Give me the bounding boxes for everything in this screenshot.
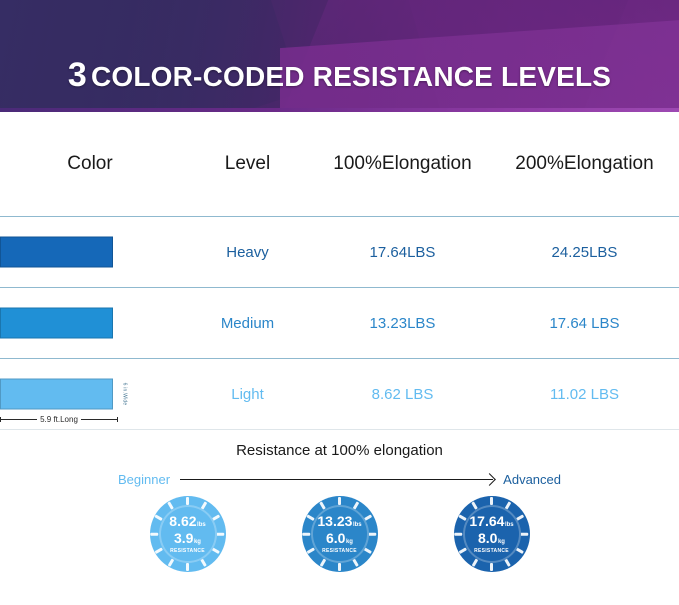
column-header-color: Color [0, 153, 235, 175]
swatch-cell-medium [0, 288, 180, 358]
badge-kg-medium: 6.0kg [326, 531, 353, 545]
badge-inner-heavy: 17.64lbs 8.0kg RESISTANCE [463, 505, 521, 563]
dimension-label-length: 5.9 ft.Long [40, 415, 78, 424]
column-header-elongation-200: 200%Elongation [490, 153, 679, 175]
swatch-wrap-light [0, 379, 113, 410]
dimension-leader-left [0, 419, 37, 420]
badge-kg-unit-medium: kg [346, 539, 353, 545]
swatch-wrap-heavy [0, 237, 113, 268]
column-header-elongation-100: 100%Elongation [315, 153, 490, 175]
badge-lbs-value-light: 8.62 [169, 513, 196, 529]
cell-level-medium: Medium [180, 315, 315, 332]
table-header-row: Color Level 100%Elongation 200%Elongatio… [0, 112, 679, 217]
swatch-cell-light: 6 in.Wide 5.9 ft.Long [0, 359, 180, 429]
badge-caption-heavy: RESISTANCE [474, 549, 509, 554]
title-text: COLOR-CODED RESISTANCE LEVELS [91, 61, 611, 92]
badge-inner-medium: 13.23lbs 6.0kg RESISTANCE [311, 505, 369, 563]
scale-title: Resistance at 100% elongation [0, 442, 679, 459]
color-swatch-heavy [0, 237, 113, 268]
scale-label-advanced: Advanced [503, 472, 561, 487]
badge-kg-unit-heavy: kg [498, 539, 505, 545]
badge-lbs-unit-heavy: lbs [505, 522, 514, 528]
resistance-scale-section: Resistance at 100% elongation Beginner A… [0, 430, 679, 605]
badge-lbs-value-medium: 13.23 [317, 513, 352, 529]
cell-elongation200-heavy: 24.25LBS [490, 244, 679, 261]
table-row: 6 in.Wide 5.9 ft.Long Light 8.62 LBS 11.… [0, 359, 679, 430]
page-title: 3COLOR-CODED RESISTANCE LEVELS [0, 56, 679, 95]
badge-lbs-heavy: 17.64lbs [469, 514, 513, 528]
badge-caption-medium: RESISTANCE [322, 549, 357, 554]
table-row: Heavy 17.64LBS 24.25LBS [0, 217, 679, 288]
resistance-badge-heavy: 17.64lbs 8.0kg RESISTANCE [454, 496, 530, 572]
resistance-table: Color Level 100%Elongation 200%Elongatio… [0, 112, 679, 430]
cell-elongation200-light: 11.02 LBS [490, 386, 679, 403]
scale-label-beginner: Beginner [118, 472, 170, 487]
badge-kg-value-medium: 6.0 [326, 530, 345, 546]
badge-kg-value-light: 3.9 [174, 530, 193, 546]
cell-level-light: Light [180, 386, 315, 403]
cell-elongation100-heavy: 17.64LBS [315, 244, 490, 261]
resistance-badge-light: 8.62lbs 3.9kg RESISTANCE [150, 496, 226, 572]
badge-kg-heavy: 8.0kg [478, 531, 505, 545]
badge-lbs-light: 8.62lbs [169, 514, 205, 528]
badge-caption-light: RESISTANCE [170, 549, 205, 554]
badge-kg-value-heavy: 8.0 [478, 530, 497, 546]
badge-lbs-medium: 13.23lbs [317, 514, 361, 528]
page-header: 3COLOR-CODED RESISTANCE LEVELS [0, 0, 679, 112]
dimension-label-width: 6 in.Wide [121, 383, 127, 406]
swatch-cell-heavy [0, 217, 180, 287]
cell-level-heavy: Heavy [180, 244, 315, 261]
swatch-wrap-medium [0, 308, 113, 339]
dimension-leader-right [81, 419, 118, 420]
column-header-color-cell: Color [0, 112, 180, 216]
badge-kg-unit-light: kg [194, 539, 201, 545]
scale-arrow-icon [180, 479, 493, 480]
resistance-badge-medium: 13.23lbs 6.0kg RESISTANCE [302, 496, 378, 572]
badge-lbs-unit-medium: lbs [353, 522, 362, 528]
table-row: Medium 13.23LBS 17.64 LBS [0, 288, 679, 359]
badge-kg-light: 3.9kg [174, 531, 201, 545]
cell-elongation100-light: 8.62 LBS [315, 386, 490, 403]
badge-lbs-unit-light: lbs [197, 522, 206, 528]
cell-elongation200-medium: 17.64 LBS [490, 315, 679, 332]
color-swatch-light [0, 379, 113, 410]
cell-elongation100-medium: 13.23LBS [315, 315, 490, 332]
resistance-badges: 8.62lbs 3.9kg RESISTANCE 13.23lbs 6.0kg … [0, 496, 679, 572]
badge-lbs-value-heavy: 17.64 [469, 513, 504, 529]
dimension-label-length-group: 5.9 ft.Long [0, 415, 118, 424]
scale-arrow-row: Beginner Advanced [118, 472, 561, 487]
title-number: 3 [68, 56, 87, 94]
badge-inner-light: 8.62lbs 3.9kg RESISTANCE [159, 505, 217, 563]
color-swatch-medium [0, 308, 113, 339]
